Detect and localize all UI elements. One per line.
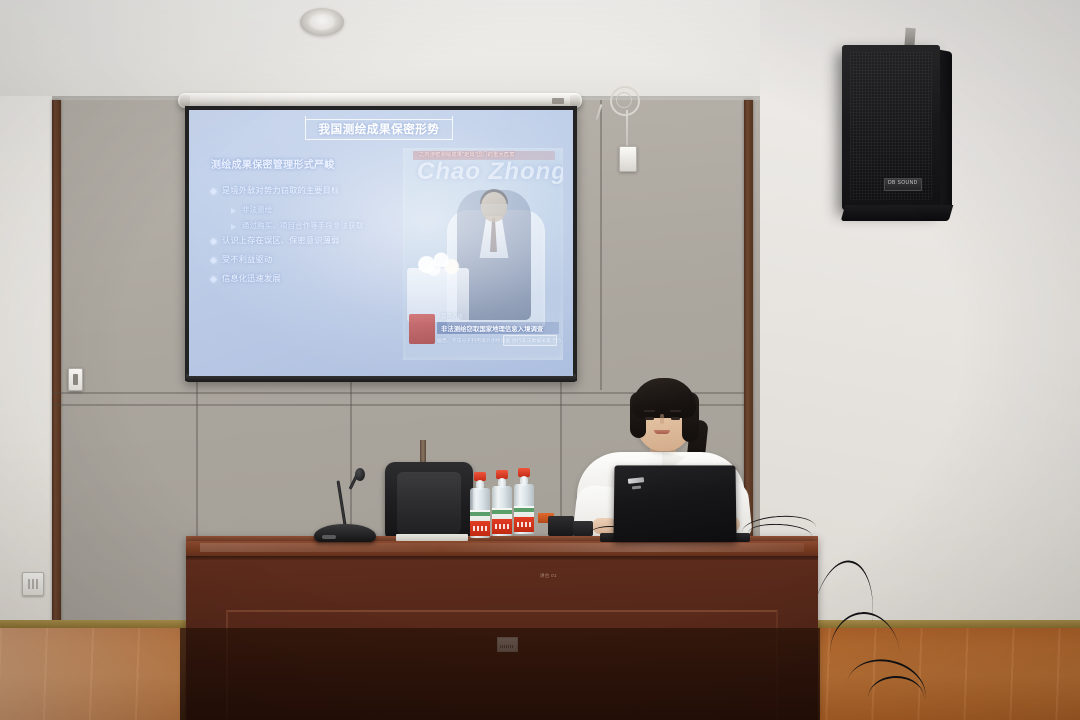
news-name-caption: 嘉宾访谈 bbox=[441, 312, 463, 320]
wall-seam-4 bbox=[600, 100, 602, 390]
bullet-item: 通过购买、项目合作等手段非法获取 bbox=[231, 221, 406, 230]
triangle-bullet-icon bbox=[231, 208, 236, 214]
bullet-text: 信息化迅速发展 bbox=[222, 274, 281, 284]
gooseneck-microphone[interactable] bbox=[314, 524, 376, 542]
slide-content: 我国测绘成果保密形势 测绘成果保密管理形式严峻 是境外敌对势力窃取的主要目标 非… bbox=[189, 110, 573, 376]
bullet-item: 是境外敌对势力窃取的主要目标 bbox=[211, 186, 406, 196]
bottle-label-green bbox=[470, 512, 490, 516]
media-progress-bar[interactable] bbox=[403, 332, 563, 346]
water-bottle[interactable] bbox=[514, 468, 534, 534]
podium-floor-shadow bbox=[180, 628, 820, 720]
laptop[interactable] bbox=[613, 465, 736, 541]
bullet-item: 受不利益驱动 bbox=[211, 255, 406, 265]
recessed-downlight-icon bbox=[300, 8, 344, 36]
bottle-label-green bbox=[492, 510, 512, 514]
bullet-text: 是境外敌对势力窃取的主要目标 bbox=[222, 186, 339, 196]
bullet-item: 非法测绘 bbox=[231, 205, 406, 214]
bottle-label-red bbox=[470, 521, 490, 536]
news-big-text: Chao Zhong bbox=[417, 158, 559, 186]
control-unit[interactable] bbox=[548, 516, 574, 536]
wall-seam-2 bbox=[350, 382, 352, 542]
wall-trim-right bbox=[744, 100, 753, 550]
bullet-text: 通过购买、项目合作等手段非法获取 bbox=[242, 221, 363, 230]
roller-control-button[interactable] bbox=[552, 98, 564, 104]
chair-backrest-cushion bbox=[397, 472, 461, 534]
floor-cable-4 bbox=[868, 676, 924, 720]
eyebrow-left bbox=[644, 410, 655, 412]
diamond-bullet-icon bbox=[210, 188, 217, 195]
speaker-bottom-face bbox=[841, 205, 954, 221]
cable-drop bbox=[626, 110, 628, 150]
eyebrow-right bbox=[670, 410, 681, 412]
bottle-label-red bbox=[514, 517, 534, 532]
bullet-text: 非法测绘 bbox=[242, 205, 272, 214]
bullet-item: 认识上存在误区、保密意识薄弱 bbox=[211, 236, 406, 246]
bottle-label-red bbox=[492, 519, 512, 534]
news-flower-arrangement bbox=[411, 248, 463, 278]
eye-left bbox=[645, 417, 654, 420]
bullet-text: 认识上存在误区、保密意识薄弱 bbox=[222, 236, 339, 246]
podium-tag-text: 讲台 01 bbox=[540, 573, 557, 579]
light-switch-icon[interactable] bbox=[68, 368, 83, 391]
news-person-head bbox=[481, 192, 507, 222]
podium-top-edge bbox=[186, 556, 818, 560]
eye-right bbox=[671, 417, 680, 420]
roller-endcap-right bbox=[570, 95, 580, 106]
progress-bar-track[interactable] bbox=[503, 335, 557, 346]
roller-endcap-left bbox=[180, 95, 190, 106]
bullet-text: 受不利益驱动 bbox=[222, 255, 272, 265]
desk-cable-3 bbox=[590, 526, 630, 541]
diamond-bullet-icon bbox=[210, 276, 217, 283]
water-bottle[interactable] bbox=[492, 470, 512, 536]
diamond-bullet-icon bbox=[210, 238, 217, 245]
speaker-brand-badge: DB SOUND bbox=[884, 178, 922, 191]
slide-title: 我国测绘成果保密形势 bbox=[307, 121, 451, 137]
diamond-bullet-icon bbox=[210, 257, 217, 264]
slide-subtitle: 测绘成果保密管理形式严峻 bbox=[211, 156, 335, 171]
slide-bullet-list: 是境外敌对势力窃取的主要目标 非法测绘 通过购买、项目合作等手段非法获取 认识上… bbox=[211, 186, 406, 294]
cable-junction-box-icon bbox=[619, 146, 637, 172]
paper-sheet[interactable] bbox=[396, 534, 468, 541]
water-bottle[interactable] bbox=[470, 472, 490, 538]
speaker-badge-text: DB SOUND bbox=[888, 180, 918, 186]
mouth bbox=[654, 430, 670, 434]
power-outlet-icon[interactable] bbox=[22, 572, 44, 596]
nose bbox=[660, 414, 664, 424]
conference-room-photo: 我国测绘成果保密形势 测绘成果保密管理形式严峻 是境外敌对势力窃取的主要目标 非… bbox=[0, 0, 1080, 720]
desk-gloss-highlight bbox=[200, 543, 804, 552]
microphone-capsule-icon bbox=[355, 468, 365, 481]
news-header-text: 之内涉密测绘成果"走出"国门的重大危害 bbox=[419, 151, 515, 158]
slide-embedded-news-photo: 之内涉密测绘成果"走出"国门的重大危害 Chao Zhong 嘉宾访谈 非法测绘… bbox=[403, 148, 563, 360]
wall-trim-left bbox=[52, 100, 61, 648]
bottle-label-green bbox=[514, 508, 534, 512]
triangle-bullet-icon bbox=[231, 224, 236, 230]
bullet-item: 信息化迅速发展 bbox=[211, 274, 406, 284]
coiled-cable-inner bbox=[616, 92, 632, 108]
